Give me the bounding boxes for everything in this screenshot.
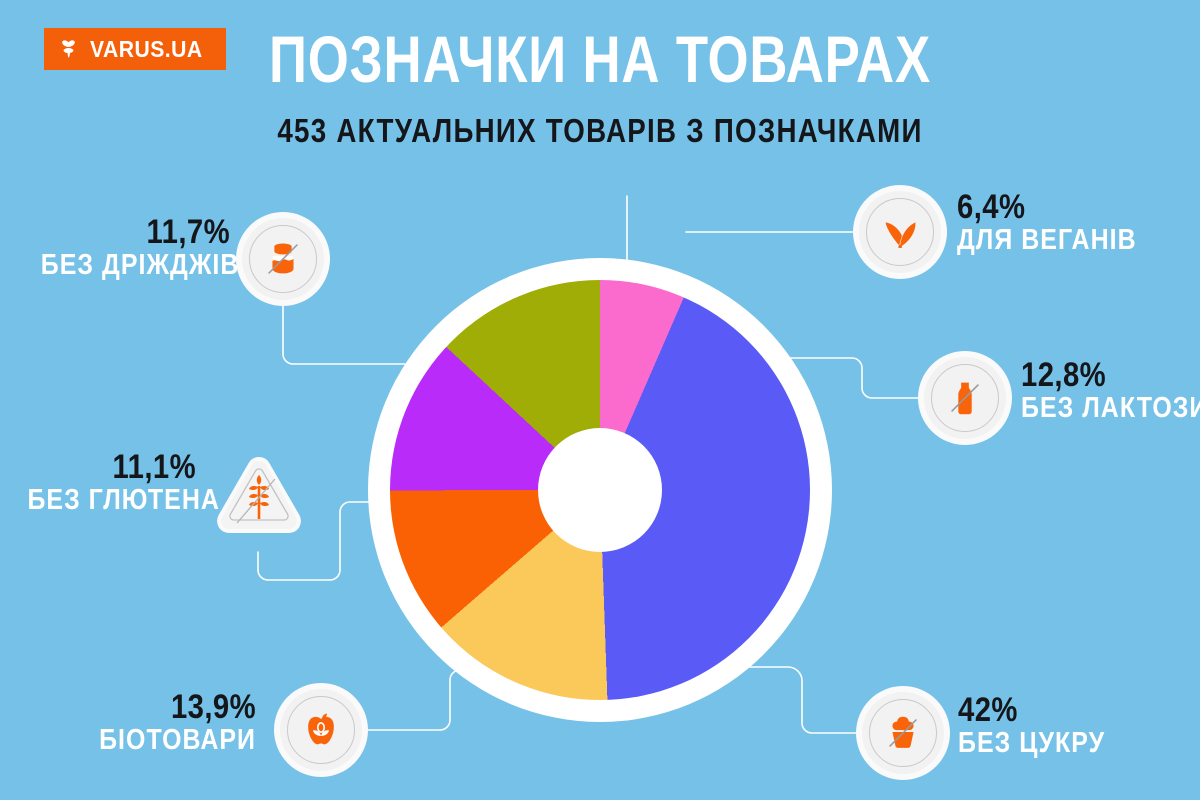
callout-vegan: 6,4% ДЛЯ ВЕГАНІВ	[957, 190, 1166, 256]
callout-bio: 13,9% БІОТОВАРИ	[24, 690, 256, 756]
no-lactose-bottle-icon	[942, 375, 988, 421]
badge-bio[interactable]	[280, 689, 362, 771]
callout-lactose-percent: 12,8%	[1021, 358, 1200, 393]
no-yeast-jar-icon	[260, 236, 306, 282]
callout-vegan-label: ДЛЯ ВЕГАНІВ	[957, 225, 1137, 256]
no-gluten-wheat-icon	[211, 453, 307, 541]
page-title: ПОЗНАЧКИ НА ТОВАРАХ	[120, 26, 1080, 92]
callout-gluten-percent: 11,1%	[27, 450, 196, 485]
no-sugar-cupcake-icon	[880, 710, 926, 756]
donut-center-hole	[538, 428, 662, 552]
callout-bio-percent: 13,9%	[56, 690, 256, 725]
infographic-canvas: VARUS.UA ПОЗНАЧКИ НА ТОВАРАХ 453 АКТУАЛЬ…	[0, 0, 1200, 800]
callout-sugar-percent: 42%	[958, 693, 1105, 728]
callout-yeast-label: БЕЗ ДРІЖДЖІВ	[41, 250, 230, 281]
callout-sugar: 42% БЕЗ ЦУКРУ	[958, 693, 1129, 759]
callout-gluten: 11,1% БЕЗ ГЛЮТЕНА	[0, 450, 196, 516]
badge-vegan[interactable]	[859, 191, 941, 273]
callout-lactose: 12,8% БЕЗ ЛАКТОЗИ	[1021, 358, 1200, 424]
callout-vegan-percent: 6,4%	[957, 190, 1137, 225]
badge-no-yeast[interactable]	[242, 218, 324, 300]
varus-leaf-icon	[56, 37, 81, 62]
page-subtitle: 453 АКТУАЛЬНИХ ТОВАРІВ З ПОЗНАЧКАМИ	[96, 114, 1104, 147]
badge-no-gluten[interactable]	[211, 455, 307, 541]
callout-sugar-label: БЕЗ ЦУКРУ	[958, 728, 1105, 759]
badge-no-sugar[interactable]	[862, 692, 944, 774]
callout-yeast: 11,7% БЕЗ ДРІЖДЖІВ	[10, 215, 230, 281]
callout-lactose-label: БЕЗ ЛАКТОЗИ	[1021, 393, 1200, 424]
callout-bio-label: БІОТОВАРИ	[56, 725, 256, 756]
bio-apple-icon	[297, 706, 345, 754]
callout-yeast-percent: 11,7%	[41, 215, 230, 250]
donut-chart	[368, 258, 832, 722]
vegan-sprout-icon	[877, 209, 923, 255]
badge-no-lactose[interactable]	[924, 357, 1006, 439]
callout-gluten-label: БЕЗ ГЛЮТЕНА	[27, 485, 196, 516]
